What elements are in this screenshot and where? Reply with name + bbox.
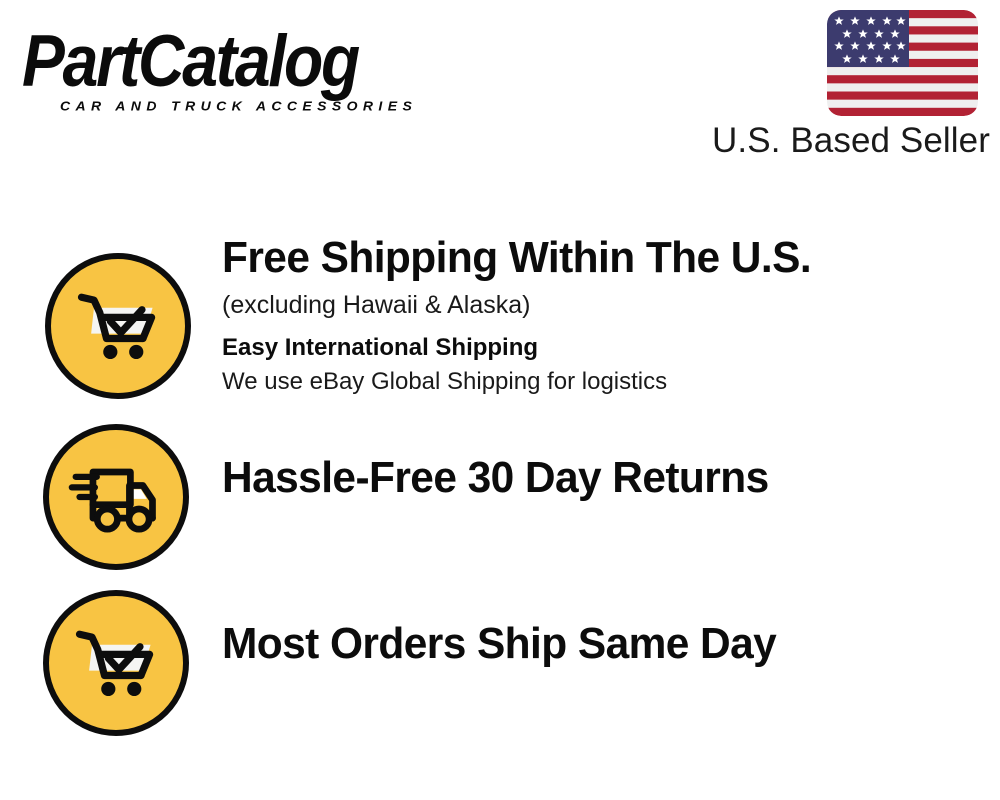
delivery-truck-icon [43,424,189,570]
feature-row-free-shipping: Free Shipping Within The U.S. (excluding… [0,232,1000,414]
feature-text-block: Free Shipping Within The U.S. (excluding… [222,232,990,398]
feature-row-same-day-ship: Most Orders Ship Same Day [0,590,1000,742]
us-flag-icon [827,10,978,116]
shopping-cart-check-icon [43,590,189,736]
brand-logo[interactable]: PartCatalog CAR AND TRUCK ACCESSORIES [22,22,492,112]
feature-headline: Free Shipping Within The U.S. [222,232,963,284]
feature-headline: Hassle-Free 30 Day Returns [222,452,963,504]
feature-text-block: Hassle-Free 30 Day Returns [222,452,990,504]
feature-text-block: Most Orders Ship Same Day [222,618,990,670]
feature-subtext-note: We use eBay Global Shipping for logistic… [222,366,990,398]
seller-badge-label: U.S. Based Seller [710,120,990,162]
brand-tagline: CAR AND TRUCK ACCESSORIES [60,98,417,113]
feature-row-returns: Hassle-Free 30 Day Returns [0,420,1000,572]
feature-subtext: (excluding Hawaii & Alaska) [222,288,990,322]
page-header: PartCatalog CAR AND TRUCK ACCESSORIES [0,0,1000,175]
feature-headline: Most Orders Ship Same Day [222,618,963,670]
feature-subtext-strong: Easy International Shipping [222,332,990,364]
shopping-cart-check-icon [45,253,191,399]
us-based-seller-badge: U.S. Based Seller [710,8,990,158]
brand-wordmark: PartCatalog [22,22,358,101]
